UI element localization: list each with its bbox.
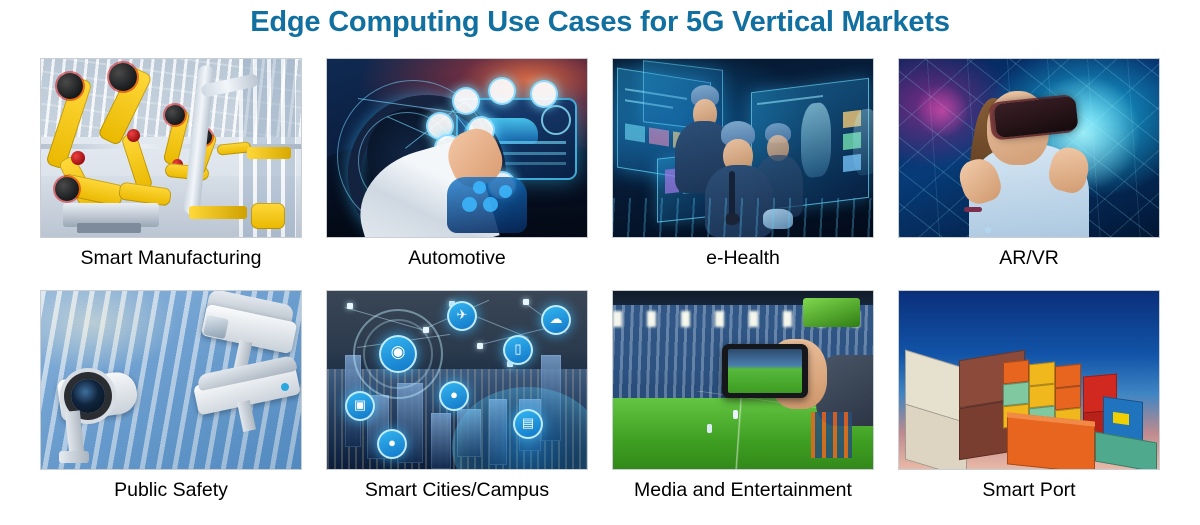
use-case-card-e-health[interactable]: e-Health xyxy=(612,58,874,270)
use-case-image-media-and-entertainment xyxy=(612,290,874,470)
factory-illustration xyxy=(41,59,301,237)
wifi-icon[interactable]: ◉ xyxy=(379,335,417,373)
use-case-card-smart-port[interactable]: Smart Port xyxy=(898,290,1160,502)
use-case-card-automotive[interactable]: Automotive xyxy=(326,58,588,270)
use-case-caption-ar-vr: AR/VR xyxy=(898,247,1160,270)
smart-city-illustration: ◉ ✈ ☁ ▯ ● ▣ ● ▤ xyxy=(327,291,587,469)
use-case-image-ar-vr xyxy=(898,58,1160,238)
chart-icon[interactable]: ▤ xyxy=(513,409,543,439)
use-case-caption-e-health: e-Health xyxy=(612,247,874,270)
scoreboard xyxy=(803,298,860,326)
arvr-illustration xyxy=(899,59,1159,237)
ehealth-illustration xyxy=(613,59,873,237)
shipping-containers-illustration xyxy=(899,291,1159,469)
location-pin-icon[interactable]: ● xyxy=(439,381,469,411)
use-case-card-ar-vr[interactable]: AR/VR xyxy=(898,58,1160,270)
slide-root: Edge Computing Use Cases for 5G Vertical… xyxy=(0,0,1200,525)
use-case-image-smart-cities-campus: ◉ ✈ ☁ ▯ ● ▣ ● ▤ xyxy=(326,290,588,470)
cloud-icon[interactable]: ☁ xyxy=(541,305,571,335)
use-case-card-media-and-entertainment[interactable]: Media and Entertainment xyxy=(612,290,874,502)
cctv-illustration xyxy=(41,291,301,469)
mobile-icon[interactable]: ▯ xyxy=(503,335,533,365)
use-case-caption-smart-cities-campus: Smart Cities/Campus xyxy=(326,479,588,502)
use-case-grid: Smart Manufacturing xyxy=(40,58,1160,502)
use-case-image-automotive xyxy=(326,58,588,238)
use-case-image-smart-port xyxy=(898,290,1160,470)
smartphone xyxy=(722,344,808,398)
use-case-caption-public-safety: Public Safety xyxy=(40,479,302,502)
use-case-card-smart-manufacturing[interactable]: Smart Manufacturing xyxy=(40,58,302,270)
hud-node-icon xyxy=(530,80,558,108)
use-case-image-e-health xyxy=(612,58,874,238)
use-case-caption-smart-port: Smart Port xyxy=(898,479,1160,502)
airplane-icon[interactable]: ✈ xyxy=(447,301,477,331)
network-node-icon xyxy=(523,299,529,305)
phone-screen xyxy=(728,349,802,393)
stadium-illustration xyxy=(613,291,873,469)
use-case-caption-media-and-entertainment: Media and Entertainment xyxy=(612,479,874,502)
use-case-card-smart-cities-campus[interactable]: ◉ ✈ ☁ ▯ ● ▣ ● ▤ Smart Cities/Campus xyxy=(326,290,588,502)
use-case-image-public-safety xyxy=(40,290,302,470)
network-node-icon xyxy=(347,303,353,309)
hud-node-icon xyxy=(488,77,516,105)
connected-car-illustration xyxy=(327,59,587,237)
page-title: Edge Computing Use Cases for 5G Vertical… xyxy=(0,6,1200,39)
use-case-caption-automotive: Automotive xyxy=(326,247,588,270)
person-icon[interactable]: ● xyxy=(377,429,407,459)
use-case-caption-smart-manufacturing: Smart Manufacturing xyxy=(40,247,302,270)
building-icon[interactable]: ▣ xyxy=(345,391,375,421)
network-node-icon xyxy=(477,343,483,349)
use-case-card-public-safety[interactable]: Public Safety xyxy=(40,290,302,502)
use-case-image-smart-manufacturing xyxy=(40,58,302,238)
